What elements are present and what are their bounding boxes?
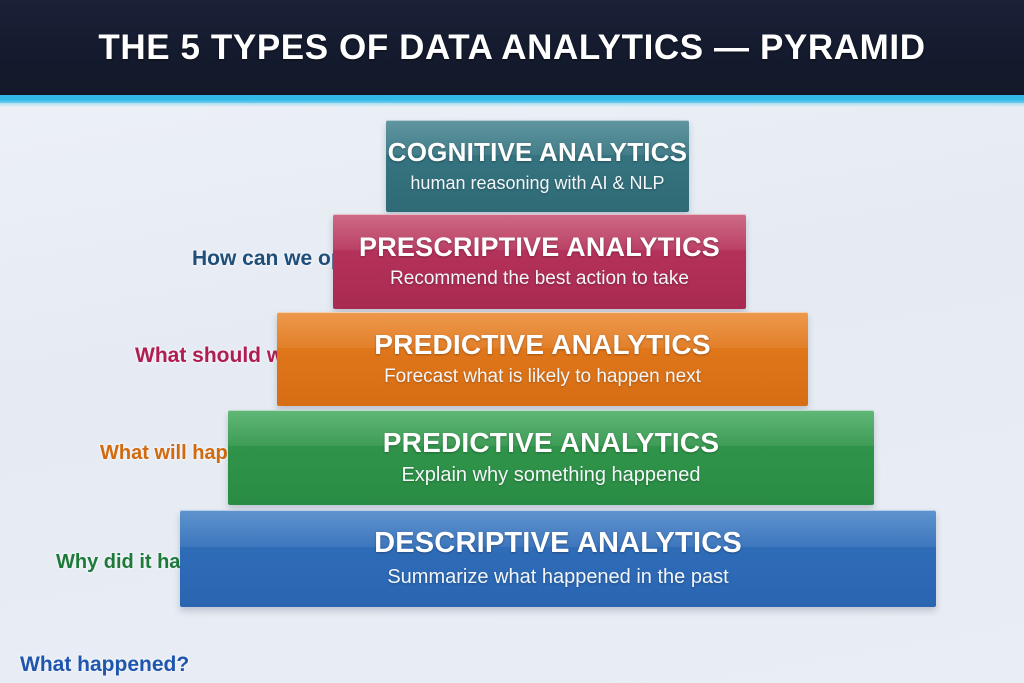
tier-subtitle-descriptive: Summarize what happened in the past [387,566,728,589]
header-bar: THE 5 TYPES OF DATA ANALYTICS — PYRAMID [0,0,1024,95]
slide-canvas: THE 5 TYPES OF DATA ANALYTICS — PYRAMID … [0,0,1024,683]
tier-subtitle-diagnostic: Explain why something happened [401,464,700,487]
question-label-descriptive: What happened? [20,653,189,677]
tier-subtitle-prescriptive: Recommend the best action to take [390,268,689,290]
pyramid-tier-diagnostic[interactable]: PREDICTIVE ANALYTICS Explain why somethi… [228,410,874,505]
tier-title-diagnostic: PREDICTIVE ANALYTICS [383,428,719,459]
tier-title-predictive: PREDICTIVE ANALYTICS [374,330,710,361]
pyramid-tier-predictive[interactable]: PREDICTIVE ANALYTICS Forecast what is li… [277,312,808,406]
tier-title-descriptive: DESCRIPTIVE ANALYTICS [374,528,742,560]
pyramid-tier-prescriptive[interactable]: PRESCRIPTIVE ANALYTICS Recommend the bes… [333,214,746,309]
header-accent-line [0,95,1024,103]
tier-title-prescriptive: PRESCRIPTIVE ANALYTICS [359,233,720,263]
tier-subtitle-predictive: Forecast what is likely to happen next [384,366,701,388]
tier-title-cognitive: COGNITIVE ANALYTICS [388,138,687,167]
pyramid-diagram: How can we optimize? What should we do? … [0,107,1024,683]
pyramid-tier-descriptive[interactable]: DESCRIPTIVE ANALYTICS Summarize what hap… [180,510,936,607]
page-title: THE 5 TYPES OF DATA ANALYTICS — PYRAMID [98,28,925,68]
tier-subtitle-cognitive: human reasoning with AI & NLP [410,173,664,194]
pyramid-tier-cognitive[interactable]: COGNITIVE ANALYTICS human reasoning with… [386,120,689,212]
